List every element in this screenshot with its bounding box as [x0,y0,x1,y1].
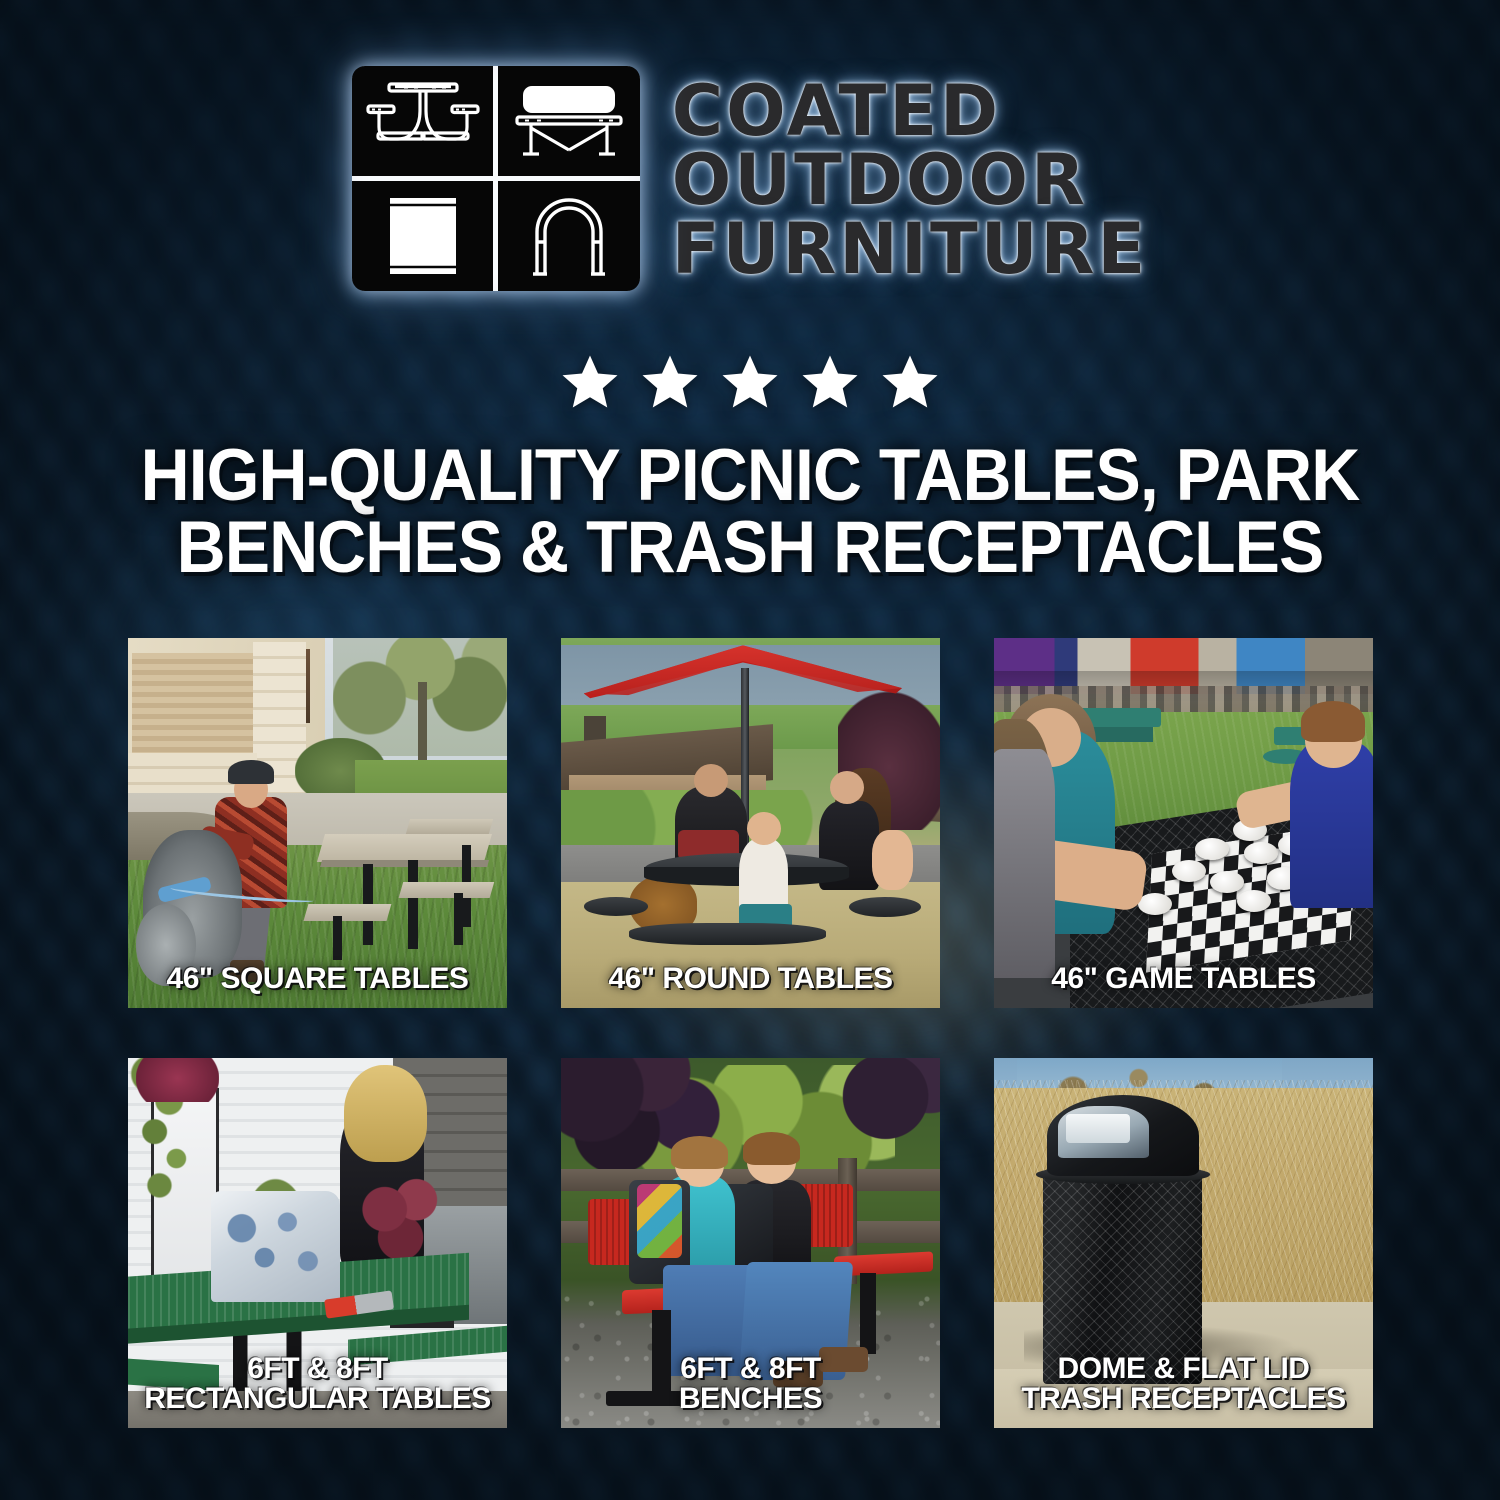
product-card-game-tables[interactable]: 46" GAME TABLES [994,638,1373,1008]
caption-line-1: 6FT & 8FT [569,1354,932,1384]
bike-rack-icon [519,190,619,282]
product-card-trash-receptacles[interactable]: DOME & FLAT LID TRASH RECEPTACLES [994,1058,1373,1428]
star-icon [799,352,861,412]
star-icon [719,352,781,412]
product-card-rectangular-tables[interactable]: 6FT & 8FT RECTANGULAR TABLES [128,1058,507,1428]
caption-line-2: TRASH RECEPTACLES [1002,1384,1365,1414]
product-caption: 46" ROUND TABLES [561,964,940,994]
product-caption: 46" GAME TABLES [994,964,1373,994]
star-icon [639,352,701,412]
logo-tile-trash-receptacle [352,181,494,291]
caption-line-2: BENCHES [569,1384,932,1414]
brand-wordmark: COATED OUTDOOR FURNITURE [672,74,1149,284]
logo-tile-park-bench [498,66,640,176]
caption-line-1: 6FT & 8FT [136,1354,499,1384]
star-rating [0,352,1500,412]
caption-line-1: 46" ROUND TABLES [569,964,932,994]
product-grid: 46" SQUARE TABLES [128,638,1373,1428]
product-card-benches[interactable]: 6FT & 8FT BENCHES [561,1058,940,1428]
product-photo-round-tables [561,638,940,1008]
star-icon [559,352,621,412]
logo-tile-picnic-table [352,66,494,176]
brand-line-3: FURNITURE [672,216,1149,283]
product-caption: 46" SQUARE TABLES [128,964,507,994]
caption-line-1: DOME & FLAT LID [1002,1354,1365,1384]
page-headline: HIGH-QUALITY PICNIC TABLES, PARK BENCHES… [90,440,1410,583]
logo-mark [352,66,640,291]
park-bench-icon [509,78,629,164]
logo-tile-bike-rack [498,181,640,291]
trash-receptacle-icon [380,190,466,282]
product-card-round-tables[interactable]: 46" ROUND TABLES [561,638,940,1008]
headline-line-2: BENCHES & TRASH RECEPTACLES [136,512,1364,584]
product-caption: DOME & FLAT LID TRASH RECEPTACLES [994,1354,1373,1414]
caption-line-2: RECTANGULAR TABLES [136,1384,499,1414]
product-card-square-tables[interactable]: 46" SQUARE TABLES [128,638,507,1008]
product-photo-game-tables [994,638,1373,1008]
product-caption: 6FT & 8FT BENCHES [561,1354,940,1414]
product-photo-square-tables [128,638,507,1008]
caption-line-1: 46" GAME TABLES [1002,964,1365,994]
brand-logo[interactable]: COATED OUTDOOR FURNITURE [0,66,1500,291]
product-caption: 6FT & 8FT RECTANGULAR TABLES [128,1354,507,1414]
picnic-table-icon [364,78,482,164]
caption-line-1: 46" SQUARE TABLES [136,964,499,994]
star-icon [879,352,941,412]
brand-line-2: OUTDOOR [672,147,1088,214]
headline-line-1: HIGH-QUALITY PICNIC TABLES, PARK [136,440,1364,512]
brand-line-1: COATED [672,78,1001,145]
